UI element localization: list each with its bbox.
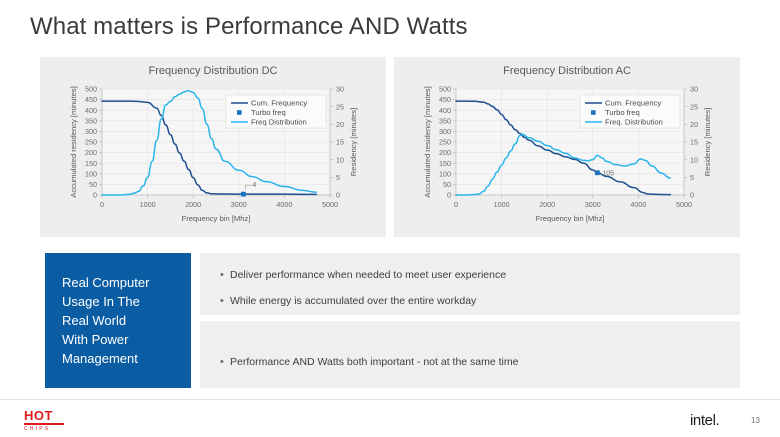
svg-text:450: 450 (85, 95, 97, 104)
chart-panel-dc: Frequency Distribution DC 05010015020025… (40, 57, 386, 237)
bullet-text: Performance AND Watts both important - n… (230, 354, 518, 370)
callout-line: With Power (62, 330, 191, 349)
svg-text:30: 30 (690, 85, 698, 94)
svg-text:2000: 2000 (539, 200, 555, 209)
callout-box: Real Computer Usage In The Real World Wi… (45, 253, 191, 388)
svg-text:0: 0 (447, 191, 451, 200)
chart-canvas-ac: 0501001502002503003504004505000510152025… (394, 79, 740, 237)
bullet-text: While energy is accumulated over the ent… (230, 293, 476, 309)
hot-chips-logo-top: HOT (24, 409, 68, 422)
svg-text:4: 4 (252, 182, 256, 189)
svg-text:4000: 4000 (276, 200, 292, 209)
svg-text:0: 0 (454, 200, 458, 209)
svg-text:100: 100 (439, 169, 451, 178)
chart-title-dc: Frequency Distribution DC (40, 65, 386, 77)
svg-text:50: 50 (443, 180, 451, 189)
svg-text:25: 25 (336, 102, 344, 111)
svg-text:5000: 5000 (676, 200, 692, 209)
svg-text:Residency [minutes]: Residency [minutes] (703, 108, 712, 176)
svg-text:400: 400 (85, 106, 97, 115)
bullet-dot-icon: • (220, 354, 230, 370)
list-item: • While energy is accumulated over the e… (220, 293, 740, 309)
svg-text:Turbo freq: Turbo freq (251, 108, 286, 117)
svg-text:10: 10 (690, 155, 698, 164)
bullet-card-primary: • Deliver performance when needed to mee… (200, 253, 740, 315)
callout-line: Real Computer (62, 273, 191, 292)
callout-line: Real World (62, 311, 191, 330)
svg-text:0: 0 (336, 191, 340, 200)
page-number: 13 (751, 416, 760, 425)
svg-text:5: 5 (690, 173, 694, 182)
svg-text:20: 20 (336, 120, 344, 129)
svg-text:250: 250 (85, 138, 97, 147)
svg-text:500: 500 (85, 85, 97, 94)
svg-text:Cum. Frequency: Cum. Frequency (605, 99, 661, 108)
hot-chips-logo: HOT CHIPS (24, 409, 68, 431)
svg-text:Frequency bin [Mhz]: Frequency bin [Mhz] (182, 214, 251, 223)
chart-panel-ac: Frequency Distribution AC 05010015020025… (394, 57, 740, 237)
bullet-dot-icon: • (220, 293, 230, 309)
svg-text:300: 300 (439, 127, 451, 136)
svg-text:50: 50 (89, 180, 97, 189)
bullet-text: Deliver performance when needed to meet … (230, 267, 506, 283)
svg-text:200: 200 (85, 148, 97, 157)
svg-text:500: 500 (439, 85, 451, 94)
svg-text:Accumulated residency [minutes: Accumulated residency [minutes] (423, 86, 432, 197)
bullet-card-secondary: • Performance AND Watts both important -… (200, 321, 740, 388)
svg-text:15: 15 (336, 138, 344, 147)
callout-line: Usage In The (62, 292, 191, 311)
page-title: What matters is Performance AND Watts (30, 13, 468, 41)
svg-text:Freq Distribution: Freq Distribution (251, 118, 307, 127)
svg-text:150: 150 (85, 159, 97, 168)
hot-chips-logo-rule (24, 423, 64, 425)
svg-text:Freq. Distribution: Freq. Distribution (605, 118, 663, 127)
bottom-section: Real Computer Usage In The Real World Wi… (45, 253, 740, 388)
callout-line: Management (62, 349, 191, 368)
svg-text:1000: 1000 (494, 200, 510, 209)
svg-text:1000: 1000 (140, 200, 156, 209)
svg-text:10: 10 (336, 155, 344, 164)
svg-text:Cum. Frequency: Cum. Frequency (251, 99, 307, 108)
list-item: • Deliver performance when needed to mee… (220, 267, 740, 283)
chart-title-ac: Frequency Distribution AC (394, 65, 740, 77)
svg-text:25: 25 (690, 102, 698, 111)
bullet-dot-icon: • (220, 267, 230, 283)
svg-text:5000: 5000 (322, 200, 338, 209)
svg-text:2000: 2000 (185, 200, 201, 209)
svg-text:5: 5 (336, 173, 340, 182)
svg-text:Accumulated residency [minutes: Accumulated residency [minutes] (69, 86, 78, 197)
svg-text:150: 150 (439, 159, 451, 168)
list-item: • Performance AND Watts both important -… (220, 354, 740, 370)
chart-canvas-dc: 0501001502002503003504004505000510152025… (40, 79, 386, 237)
hot-chips-logo-bottom: CHIPS (24, 426, 68, 432)
svg-text:4000: 4000 (630, 200, 646, 209)
svg-text:15: 15 (690, 138, 698, 147)
svg-text:30: 30 (336, 85, 344, 94)
svg-text:3000: 3000 (231, 200, 247, 209)
svg-text:0: 0 (100, 200, 104, 209)
svg-text:20: 20 (690, 120, 698, 129)
svg-text:100: 100 (85, 169, 97, 178)
charts-row: Frequency Distribution DC 05010015020025… (40, 57, 740, 237)
svg-text:Frequency bin [Mhz]: Frequency bin [Mhz] (536, 214, 605, 223)
footer-divider (0, 399, 780, 400)
svg-text:Turbo freq: Turbo freq (605, 108, 640, 117)
svg-text:350: 350 (85, 116, 97, 125)
svg-text:0: 0 (690, 191, 694, 200)
svg-text:3000: 3000 (585, 200, 601, 209)
svg-text:105: 105 (602, 170, 614, 177)
svg-text:0: 0 (93, 191, 97, 200)
intel-logo: intel. (690, 412, 719, 429)
svg-text:Residency [minutes]: Residency [minutes] (349, 108, 358, 176)
svg-text:200: 200 (439, 148, 451, 157)
svg-text:350: 350 (439, 116, 451, 125)
svg-text:300: 300 (85, 127, 97, 136)
svg-text:400: 400 (439, 106, 451, 115)
svg-text:250: 250 (439, 138, 451, 147)
svg-text:450: 450 (439, 95, 451, 104)
